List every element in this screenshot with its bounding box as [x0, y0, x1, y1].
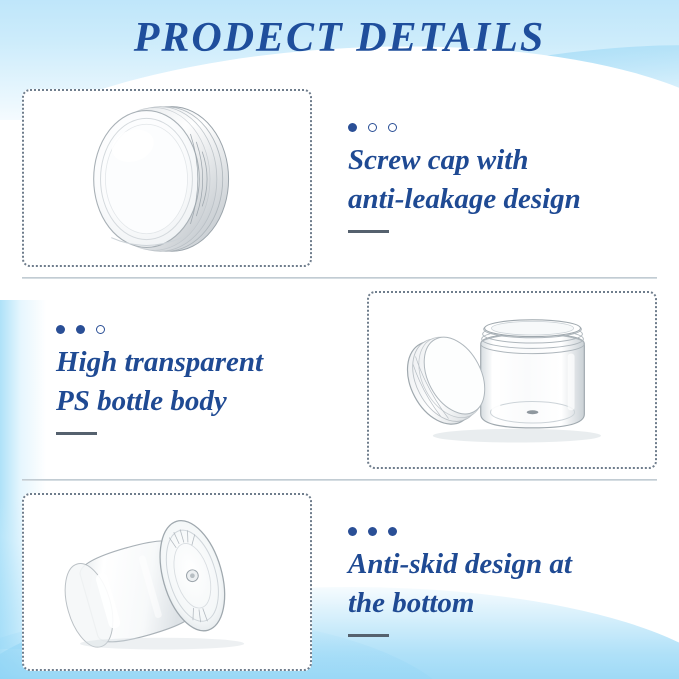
- feature-underline: [348, 634, 389, 637]
- step-dot-3: [388, 123, 397, 132]
- product-image-screw-cap: [22, 89, 312, 267]
- step-indicator-dots: [348, 527, 645, 536]
- section-anti-skid: Anti-skid design at the bottom: [0, 486, 679, 678]
- product-details-page: PRODECT DETAILS: [0, 0, 679, 679]
- jar-bottom-illustration: [24, 495, 310, 669]
- page-title: PRODECT DETAILS: [0, 14, 679, 62]
- screw-cap-illustration: [24, 91, 310, 265]
- step-dot-2: [368, 527, 377, 536]
- section-divider: [22, 479, 657, 481]
- text-block-screw-cap: Screw cap with anti-leakage design: [312, 123, 657, 233]
- step-dot-1: [348, 123, 357, 132]
- step-indicator-dots: [348, 123, 645, 132]
- feature-underline: [56, 432, 97, 435]
- step-dot-1: [348, 527, 357, 536]
- step-dot-2: [368, 123, 377, 132]
- step-indicator-dots: [56, 325, 355, 334]
- text-block-anti-skid: Anti-skid design at the bottom: [312, 527, 657, 637]
- step-dot-2: [76, 325, 85, 334]
- product-image-bottle-body: [367, 291, 657, 469]
- product-image-anti-skid: [22, 493, 312, 671]
- section-screw-cap: Screw cap with anti-leakage design: [0, 82, 679, 274]
- step-dot-3: [96, 325, 105, 334]
- step-dot-3: [388, 527, 397, 536]
- text-block-bottle-body: High transparent PS bottle body: [0, 325, 367, 435]
- section-divider: [22, 277, 657, 279]
- step-dot-1: [56, 325, 65, 334]
- feature-headline: Anti-skid design at the bottom: [348, 545, 645, 622]
- jar-with-lid-illustration: [369, 293, 655, 467]
- feature-headline: Screw cap with anti-leakage design: [348, 141, 645, 218]
- section-bottle-body: High transparent PS bottle body: [0, 284, 679, 476]
- feature-underline: [348, 230, 389, 233]
- feature-headline: High transparent PS bottle body: [56, 343, 355, 420]
